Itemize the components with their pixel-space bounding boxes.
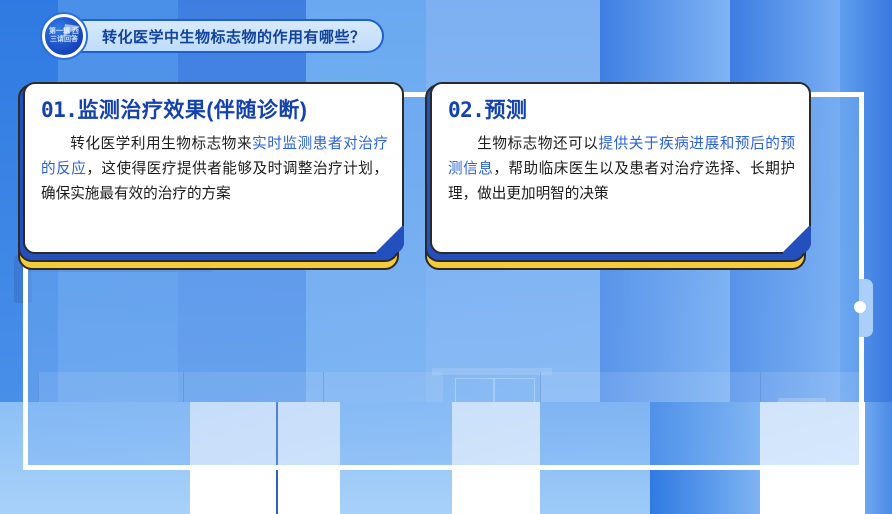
- page-title: 转化医学中生物标志物的作用有哪些？: [102, 26, 366, 47]
- logo-swoosh-icon: [63, 24, 80, 39]
- card-body-lead: 生物标志物还可以: [477, 136, 598, 152]
- card-fold-corner-icon: [781, 224, 811, 254]
- page-header: 第一辑 西 三请回答 转化医学中生物标志物的作用有哪些？: [42, 17, 384, 55]
- brand-logo-icon: 第一辑 西 三请回答: [42, 14, 86, 58]
- card-number: 01.: [41, 98, 77, 122]
- card-fold-corner-icon: [374, 224, 404, 254]
- card-surface: 01.监测治疗效果(伴随诊断) 转化医学利用生物标志物来实时监测患者对治疗的反应…: [23, 82, 404, 254]
- title-pill: 转化医学中生物标志物的作用有哪些？: [56, 19, 384, 53]
- card-surface: 02.预测 生物标志物还可以提供关于疾病进展和预后的预测信息，帮助临床医生以及患…: [430, 82, 811, 254]
- card-body: 生物标志物还可以提供关于疾病进展和预后的预测信息，帮助临床医生以及患者对治疗选择…: [448, 132, 795, 207]
- card-body-rest: ，这使得医疗提供者能够及时调整治疗计划，确保实施最有效的治疗的方案: [41, 161, 388, 202]
- card-title-text: 预测: [484, 99, 527, 122]
- floor-strip: [865, 402, 892, 514]
- card-body-rest: ，帮助临床医生以及患者对治疗选择、长期护理，做出更加明智的决策: [448, 161, 795, 202]
- card-body-lead: 转化医学利用生物标志物来: [70, 136, 252, 152]
- card-title: 01.监测治疗效果(伴随诊断): [41, 94, 388, 124]
- card-number: 02.: [448, 98, 484, 122]
- card-title: 02.预测: [448, 94, 795, 124]
- info-card: 02.预测 生物标志物还可以提供关于疾病进展和预后的预测信息，帮助临床医生以及患…: [430, 82, 811, 254]
- card-body: 转化医学利用生物标志物来实时监测患者对治疗的反应，这使得医疗提供者能够及时调整治…: [41, 132, 388, 207]
- info-card: 01.监测治疗效果(伴随诊断) 转化医学利用生物标志物来实时监测患者对治疗的反应…: [23, 82, 404, 254]
- card-title-text: 监测治疗效果(伴随诊断): [77, 99, 307, 122]
- side-tab-handle[interactable]: [859, 279, 873, 337]
